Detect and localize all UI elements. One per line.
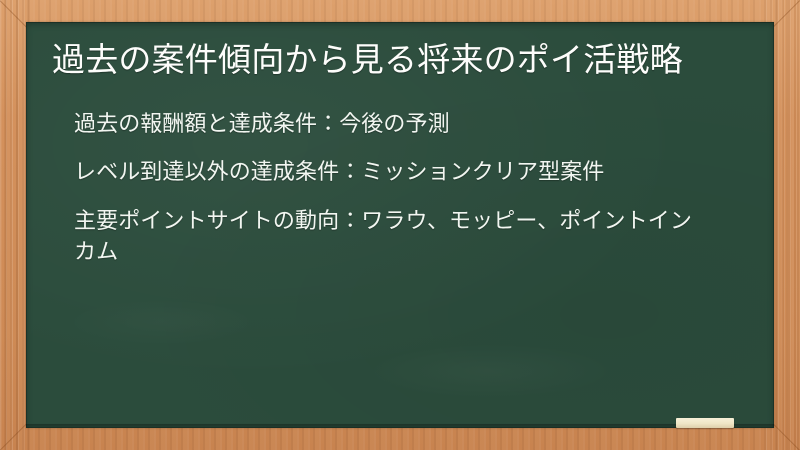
list-item: レベル到達以外の達成条件：ミッションクリア型案件 — [74, 156, 694, 187]
bullet-list: 過去の報酬額と達成条件：今後の予測 レベル到達以外の達成条件：ミッションクリア型… — [48, 108, 756, 267]
chalkboard-ledge-shadow — [26, 424, 774, 428]
list-item: 主要ポイントサイトの動向：ワラウ、モッピー、ポイントインカム — [74, 205, 694, 267]
chalkboard-slide: 過去の案件傾向から見る将来のポイ活戦略 過去の報酬額と達成条件：今後の予測 レベ… — [0, 0, 800, 450]
chalk-stick-icon — [676, 418, 734, 428]
list-item: 過去の報酬額と達成条件：今後の予測 — [74, 108, 694, 139]
chalkboard-content: 過去の案件傾向から見る将来のポイ活戦略 過去の報酬額と達成条件：今後の予測 レベ… — [26, 22, 774, 428]
chalkboard-surface: 過去の案件傾向から見る将来のポイ活戦略 過去の報酬額と達成条件：今後の予測 レベ… — [26, 22, 774, 428]
slide-title: 過去の案件傾向から見る将来のポイ活戦略 — [48, 30, 756, 82]
